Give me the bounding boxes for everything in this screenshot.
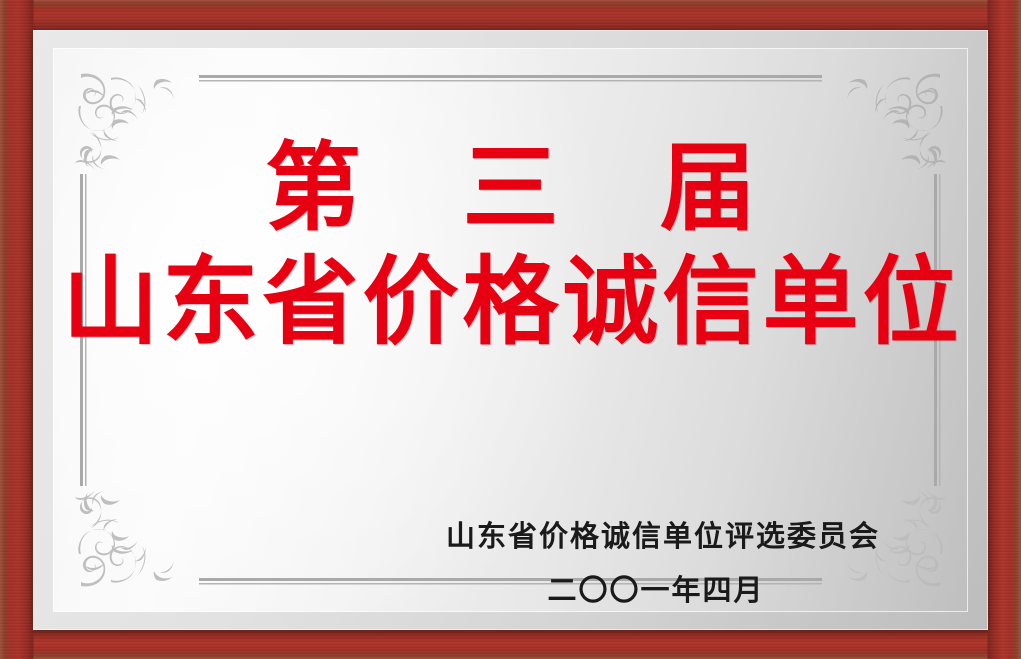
- silver-mat-border: 第 三 届 山东省价格诚信单位 山东省价格诚信单位评选委员会 二〇〇一年四月: [33, 30, 988, 630]
- issuing-organization: 山东省价格诚信单位评选委员会: [446, 513, 866, 555]
- signature-block: 山东省价格诚信单位评选委员会 二〇〇一年四月: [446, 513, 866, 609]
- award-title-line1: 第 三 届: [231, 140, 790, 236]
- award-plaque: 第 三 届 山东省价格诚信单位 山东省价格诚信单位评选委员会 二〇〇一年四月: [0, 0, 1021, 659]
- issue-date: 二〇〇一年四月: [446, 567, 866, 609]
- award-title-line2: 山东省价格诚信单位: [59, 254, 963, 350]
- plaque-face: 第 三 届 山东省价格诚信单位 山东省价格诚信单位评选委员会 二〇〇一年四月: [53, 48, 968, 612]
